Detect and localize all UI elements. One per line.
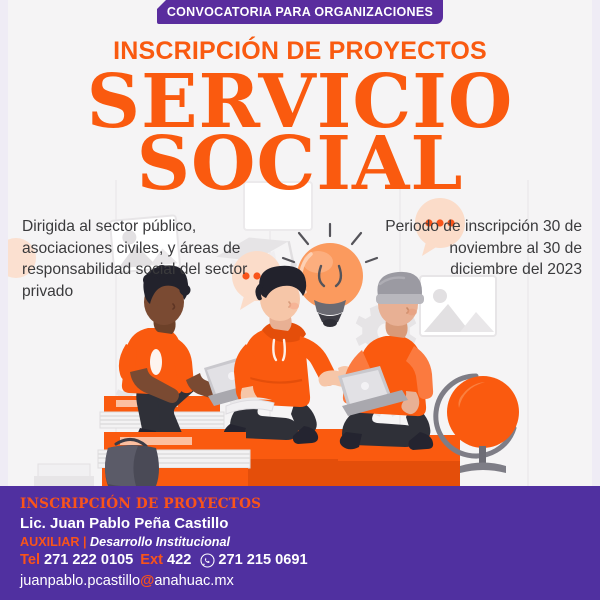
role-label: AUXILIAR | xyxy=(20,535,87,549)
whatsapp-number[interactable]: 271 215 0691 xyxy=(218,552,307,568)
email-domain: anahuac.mx xyxy=(154,573,234,589)
poster-title-line2: SOCIAL xyxy=(0,130,600,198)
contact-footer: INSCRIPCIÓN DE PROYECTOS Lic. Juan Pablo… xyxy=(0,486,600,600)
footer-heading: INSCRIPCIÓN DE PROYECTOS xyxy=(20,496,261,512)
contact-name: Lic. Juan Pablo Peña Castillo xyxy=(20,515,228,532)
contact-phones: Tel 271 222 0105 Ext 422 271 215 0691 xyxy=(20,552,308,568)
role-department: Desarrollo Institucional xyxy=(90,535,230,549)
top-banner: CONVOCATORIA PARA ORGANIZACIONES xyxy=(157,0,443,24)
top-banner-wrap: CONVOCATORIA PARA ORGANIZACIONES xyxy=(0,0,600,24)
poster-root: CONVOCATORIA PARA ORGANIZACIONES INSCRIP… xyxy=(0,0,600,600)
tel-label: Tel xyxy=(20,552,40,568)
email-user: juanpablo.pcastillo xyxy=(20,573,140,589)
ext-label: Ext xyxy=(140,552,163,568)
top-banner-text: CONVOCATORIA PARA ORGANIZACIONES xyxy=(167,5,433,19)
period-text: Periodo de inscripción 30 de noviembre a… xyxy=(382,216,582,281)
audience-text: Dirigida al sector público, asociaciones… xyxy=(22,216,272,303)
ext-number: 422 xyxy=(167,552,191,568)
picture-frame-icon xyxy=(420,276,496,336)
email-at-symbol: @ xyxy=(140,573,154,589)
contact-role: AUXILIAR | Desarrollo Institucional xyxy=(20,535,230,549)
contact-email[interactable]: juanpablo.pcastillo@anahuac.mx xyxy=(20,573,234,589)
whatsapp-icon[interactable] xyxy=(200,553,215,568)
tel-number[interactable]: 271 222 0105 xyxy=(44,552,133,568)
